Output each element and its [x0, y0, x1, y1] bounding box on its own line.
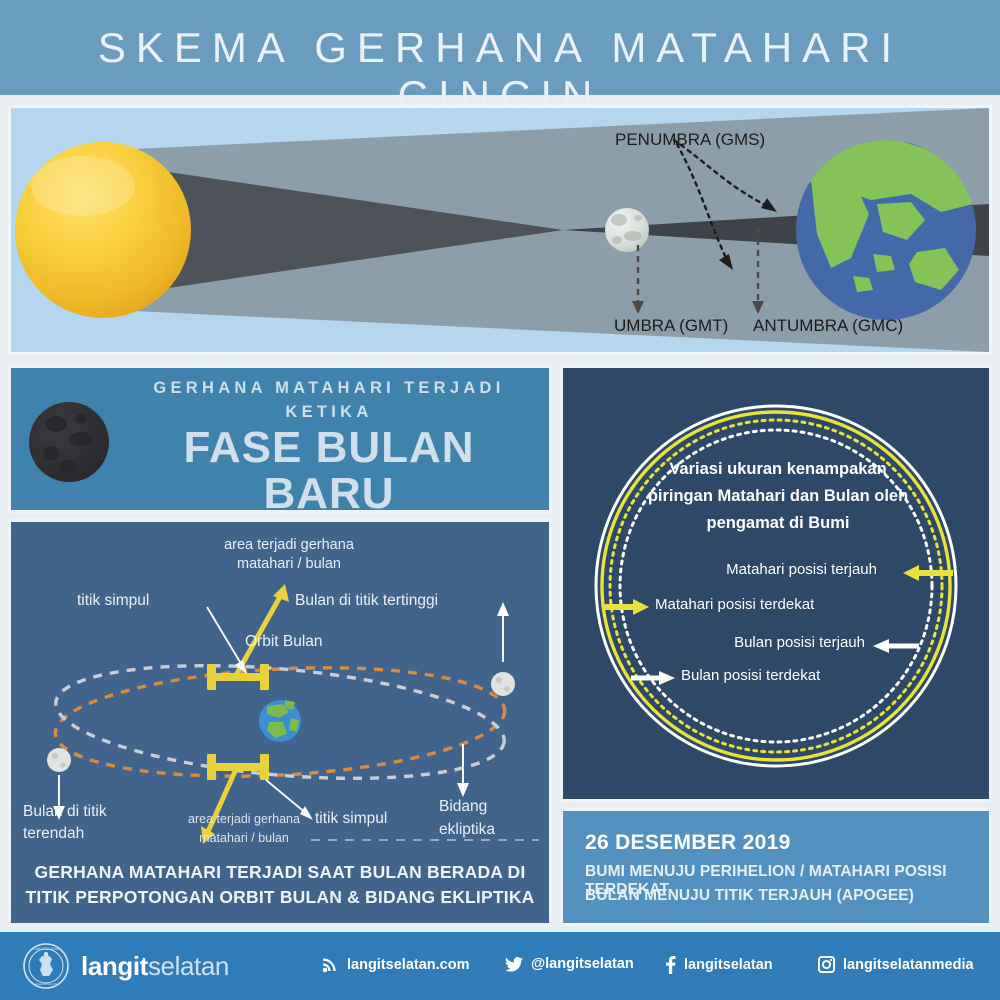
- eclipse-area-top-label: area terjadi gerhana matahari / bulan: [189, 536, 389, 574]
- brand-lockup[interactable]: LANGITSELATAN Jendela Astronomi Kita lan…: [22, 942, 229, 990]
- callout-moon-farthest: Bulan posisi terjauh: [734, 634, 865, 651]
- event-date-panel: 26 DESEMBER 2019 BUMI MENUJU PERIHELION …: [560, 808, 992, 926]
- ecliptic-plane-label: Bidang ekliptika: [439, 795, 539, 841]
- moon-highest-label: Bulan di titik tertinggi: [295, 592, 438, 610]
- callout-sun-nearest: Matahari posisi terdekat: [655, 596, 814, 613]
- footer-link-twitter-label: @langitselatan: [531, 956, 634, 972]
- orbit-caption-line-1: GERHANA MATAHARI TERJADI SAAT BULAN BERA…: [11, 860, 549, 885]
- twitter-icon: [505, 957, 523, 972]
- footer-link-instagram-label: langitselatanmedia: [843, 957, 974, 973]
- phase-line-2: FASE BULAN BARU: [119, 425, 539, 517]
- new-moon-icon: [29, 402, 109, 482]
- footer-link-facebook[interactable]: langitselatan: [665, 956, 773, 974]
- node-top-label: titik simpul: [77, 592, 149, 610]
- node-pointer-top: [207, 607, 247, 674]
- moon-orbit-label: Orbit Bulan: [245, 633, 323, 651]
- brand-light: selatan: [148, 951, 229, 981]
- instagram-icon: [818, 956, 835, 973]
- callout-moon-nearest: Bulan posisi terdekat: [681, 667, 820, 684]
- penumbra-label: PENUMBRA (GMS): [615, 130, 765, 150]
- moon-lowest-label: Bulan di titik terendah: [23, 801, 133, 845]
- footer-link-website[interactable]: langitselatan.com: [322, 956, 469, 973]
- phase-line-1: GERHANA MATAHARI TERJADI KETIKA: [119, 376, 539, 424]
- infographic-page: SKEMA GERHANA MATAHARI CINCIN: [0, 0, 1000, 1000]
- svg-text:LANGITSELATAN: LANGITSELATAN: [33, 947, 59, 951]
- apparent-size-title: Variasi ukuran kenampakan piringan Matah…: [613, 456, 943, 537]
- moon-highest-pointer: [497, 602, 509, 662]
- event-date: 26 DESEMBER 2019: [585, 831, 791, 855]
- callout-sun-farthest: Matahari posisi terjauh: [726, 561, 877, 578]
- new-moon-phase-banner: GERHANA MATAHARI TERJADI KETIKA FASE BUL…: [8, 365, 552, 513]
- rss-icon: [322, 956, 339, 973]
- event-note-2: BULAN MENUJU TITIK TERJAUH (APOGEE): [585, 887, 914, 905]
- node-bottom-label: titik simpul: [315, 810, 387, 828]
- footer-link-instagram[interactable]: langitselatanmedia: [818, 956, 974, 973]
- moon-farthest-arrow: [873, 639, 919, 653]
- footer-link-website-label: langitselatan.com: [347, 957, 469, 973]
- svg-text:Jendela Astronomi Kita: Jendela Astronomi Kita: [33, 982, 60, 986]
- antumbra-label: ANTUMBRA (GMC): [753, 316, 903, 336]
- facebook-icon: [665, 956, 676, 974]
- sun-body: [15, 142, 191, 318]
- brand-bold: langit: [81, 951, 148, 981]
- footer-link-facebook-label: langitselatan: [684, 957, 773, 973]
- earth-small-body: [259, 700, 301, 742]
- orbit-caption-line-2: TITIK PERPOTONGAN ORBIT BULAN & BIDANG E…: [11, 885, 549, 910]
- eclipse-geometry-diagram: PENUMBRA (GMS) UMBRA (GMT) ANTUMBRA (GMC…: [8, 105, 992, 355]
- langitselatan-seal-icon: LANGITSELATAN Jendela Astronomi Kita: [22, 942, 70, 990]
- eclipse-area-bottom-label: area terjadi gerhana matahari / bulan: [179, 810, 309, 848]
- brand-wordmark: langitselatan: [81, 951, 229, 982]
- moon-highest-point: [491, 672, 515, 696]
- footer-link-twitter[interactable]: @langitselatan: [505, 956, 634, 972]
- moon-lowest-point: [47, 748, 71, 772]
- umbra-label: UMBRA (GMT): [614, 316, 728, 336]
- moon-body: [605, 208, 649, 252]
- sun-farthest-arrow: [903, 565, 953, 581]
- apparent-size-diagram: Variasi ukuran kenampakan piringan Matah…: [560, 365, 992, 802]
- footer-bar: LANGITSELATAN Jendela Astronomi Kita lan…: [0, 932, 1000, 1000]
- header-banner: SKEMA GERHANA MATAHARI CINCIN: [0, 0, 1000, 95]
- lunar-orbit-diagram: area terjadi gerhana matahari / bulan ti…: [8, 519, 552, 926]
